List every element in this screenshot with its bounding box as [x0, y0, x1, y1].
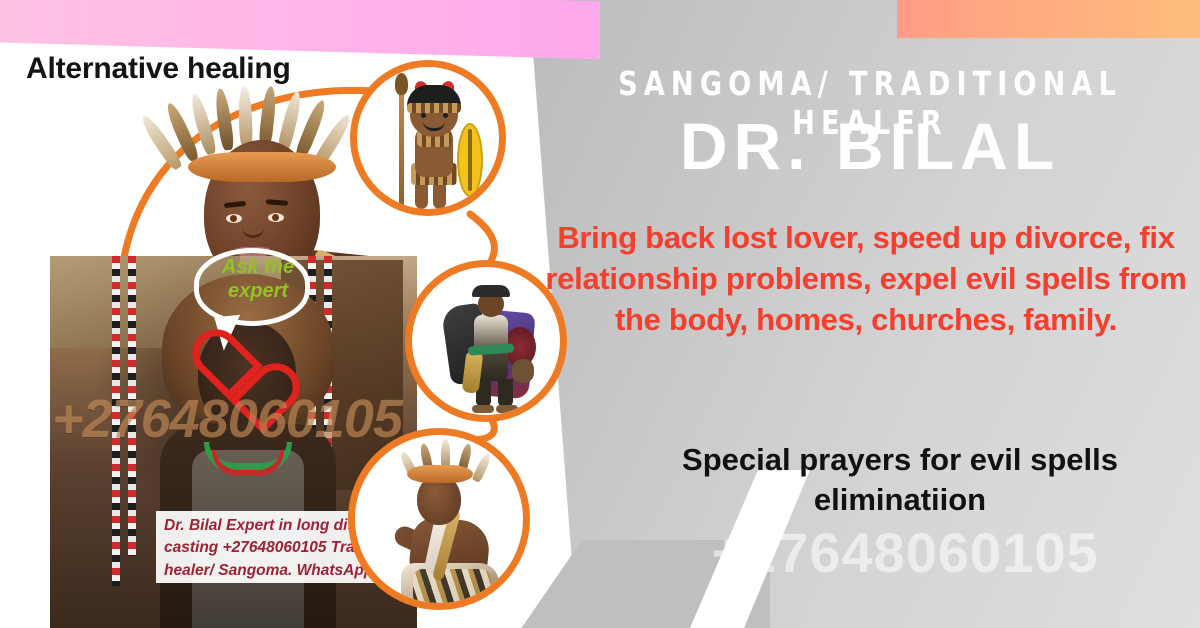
photo-phone-watermark: +27648060105	[52, 388, 402, 450]
ask-the-expert-label: Ask the expert	[206, 256, 310, 303]
page-title: Alternative healing	[26, 52, 291, 86]
pink-accent-bar	[0, 0, 600, 59]
heart-icon	[196, 334, 262, 394]
poster-canvas: Alternative healing	[0, 0, 1200, 628]
services-text: Bring back lost lover, speed up divorce,…	[540, 218, 1192, 341]
orange-accent-bar	[897, 0, 1200, 38]
circle-crouching-healer	[348, 428, 530, 610]
phone-watermark: +27648060105	[610, 520, 1200, 585]
special-offer-text: Special prayers for evil spells eliminat…	[610, 440, 1190, 519]
healer-name-heading: DR. BILAL	[560, 108, 1180, 184]
circle-zulu-warrior	[350, 60, 506, 216]
